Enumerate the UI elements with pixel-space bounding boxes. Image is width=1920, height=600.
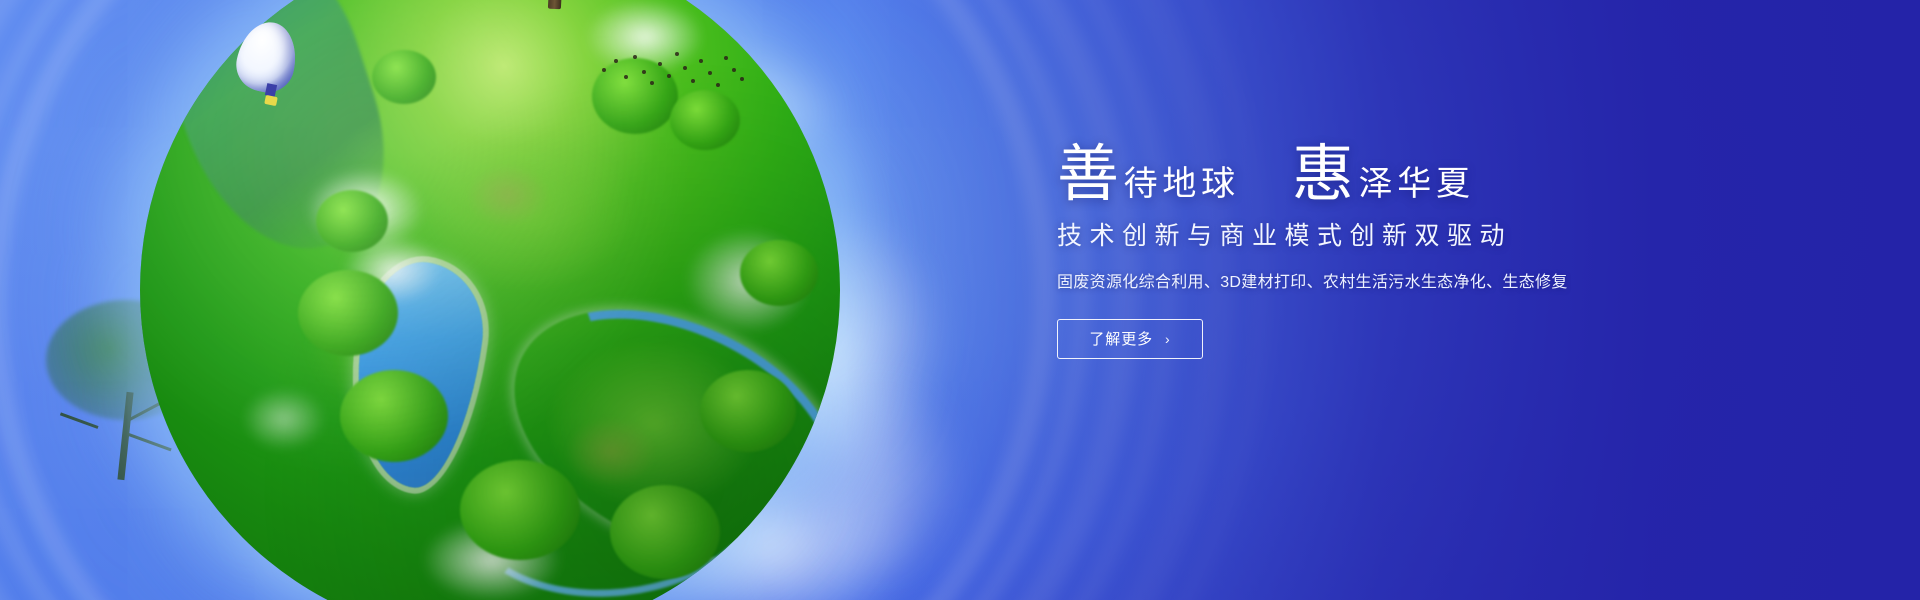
- bird-icon: [732, 68, 736, 72]
- grass-patch: [504, 304, 804, 544]
- tree: [316, 190, 388, 256]
- bird-icon: [642, 70, 646, 74]
- tree-canopy: [700, 370, 796, 452]
- bird-icon: [667, 74, 671, 78]
- river: [474, 260, 840, 600]
- grass-patch: [448, 150, 568, 240]
- bird-icon: [602, 68, 606, 72]
- headline: 善 待地球 惠 泽华夏: [1057, 120, 1697, 206]
- bird-icon: [708, 71, 712, 75]
- tree-canopy: [340, 370, 448, 462]
- cloud: [224, 374, 344, 464]
- tree-canopy: [372, 50, 436, 104]
- bird-icon: [675, 52, 679, 56]
- bird-icon: [716, 83, 720, 87]
- tree: [298, 270, 398, 362]
- learn-more-label: 了解更多: [1089, 332, 1153, 347]
- headline-char-hui: 惠: [1292, 144, 1355, 206]
- bird-icon: [614, 59, 618, 63]
- tree: [670, 90, 740, 154]
- headline-char-shan: 善: [1057, 144, 1120, 206]
- headline-word-zehuaxia: 泽华夏: [1359, 168, 1475, 206]
- cloud: [392, 500, 592, 600]
- bird-icon: [683, 66, 687, 70]
- tree: [610, 485, 720, 585]
- bird-icon: [740, 77, 744, 81]
- tree: [372, 50, 436, 108]
- bird-flock: [598, 50, 748, 96]
- grass-patch: [378, 94, 678, 324]
- cloud: [658, 206, 838, 356]
- tree-canopy: [298, 270, 398, 356]
- lake: [342, 255, 492, 495]
- chevron-right-icon: ›: [1165, 332, 1171, 346]
- tree-canopy: [610, 485, 720, 579]
- banner-content: 善 待地球 惠 泽华夏 技术创新与商业模式创新双驱动 固废资源化综合利用、3D建…: [1057, 120, 1697, 359]
- grass-patch: [546, 402, 676, 502]
- bird-icon: [699, 59, 703, 63]
- bird-icon: [633, 55, 637, 59]
- tree-canopy: [740, 240, 818, 306]
- hot-air-balloon: [238, 22, 296, 114]
- tree: [460, 460, 580, 570]
- bird-icon: [624, 75, 628, 79]
- tree-canopy: [670, 90, 740, 150]
- grass-patch: [266, 234, 526, 444]
- tree-canopy: [316, 190, 388, 252]
- learn-more-button[interactable]: 了解更多 ›: [1057, 319, 1203, 359]
- bird-icon: [658, 62, 662, 66]
- bird-icon: [650, 81, 654, 85]
- tree: [700, 370, 796, 458]
- banner-description: 固废资源化综合利用、3D建材打印、农村生活污水生态净化、生态修复: [1057, 271, 1697, 295]
- cloud: [280, 150, 450, 270]
- tree-canopy: [460, 460, 580, 560]
- cloud: [322, 220, 462, 320]
- balloon-basket: [264, 95, 278, 106]
- tree: [340, 370, 448, 468]
- bird-icon: [724, 56, 728, 60]
- tree: [740, 240, 818, 312]
- headline-word-daidiqiu: 待地球: [1124, 168, 1240, 206]
- hero-banner: 善 待地球 惠 泽华夏 技术创新与商业模式创新双驱动 固废资源化综合利用、3D建…: [0, 0, 1920, 600]
- bird-icon: [691, 79, 695, 83]
- river: [453, 387, 776, 600]
- banner-subtitle: 技术创新与商业模式创新双驱动: [1057, 224, 1697, 249]
